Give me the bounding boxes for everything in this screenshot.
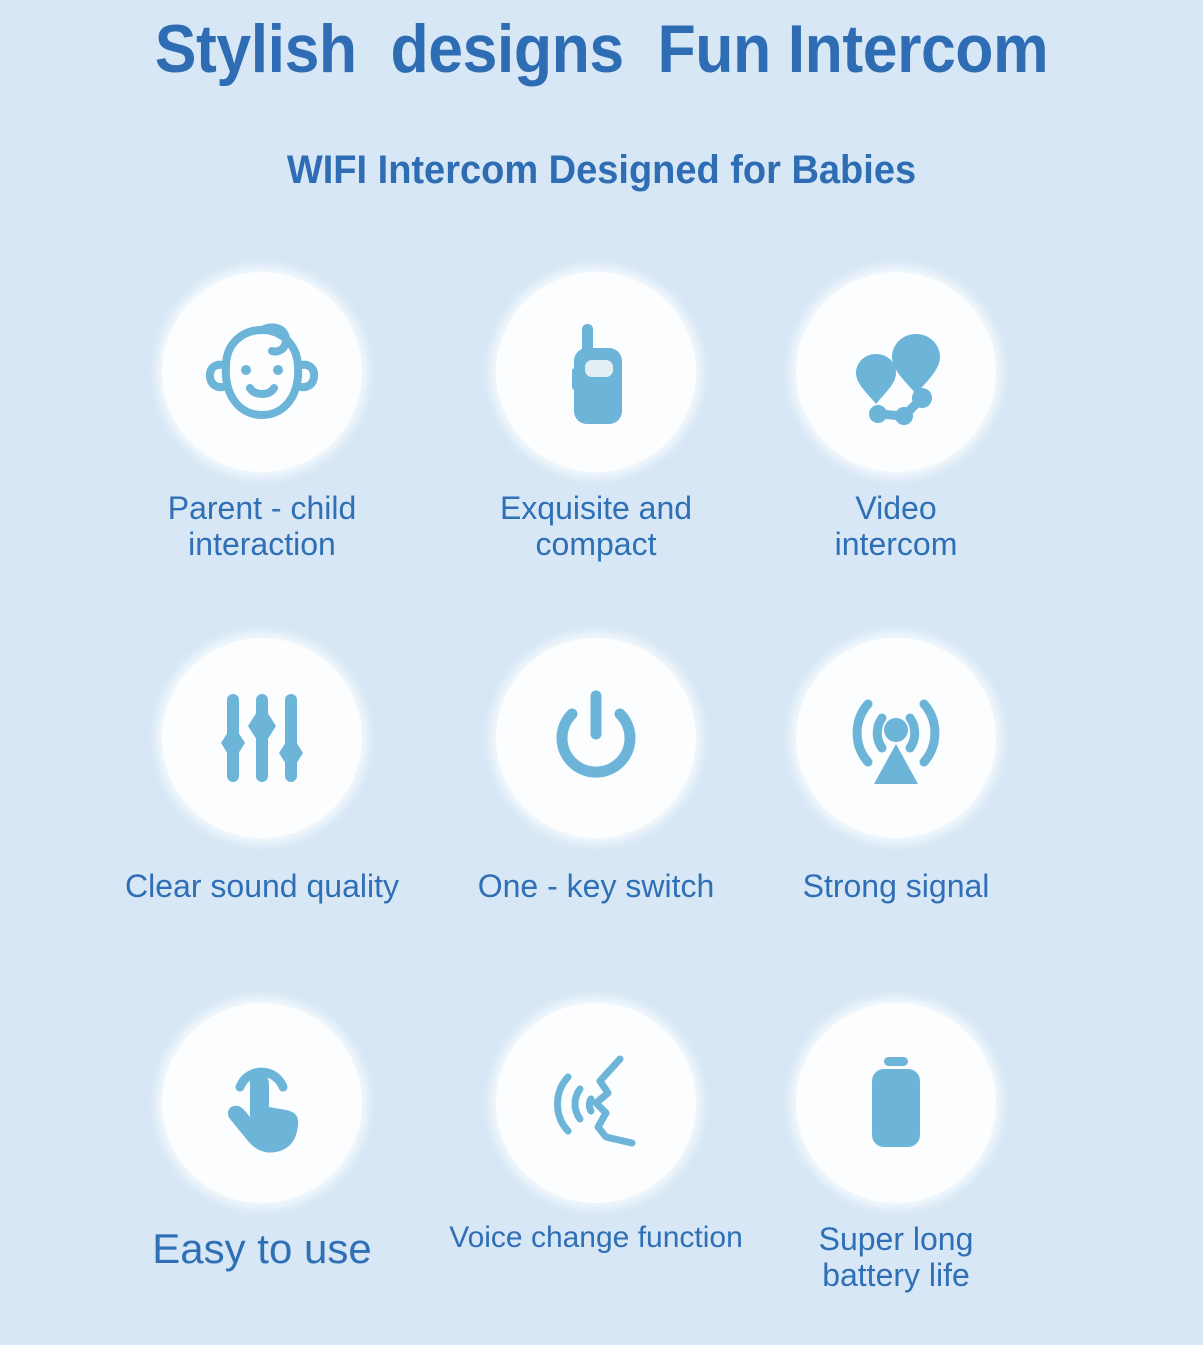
page-subtitle: WIFI Intercom Designed for Babies bbox=[30, 148, 1173, 192]
icon-badge bbox=[162, 272, 362, 472]
baby-face-icon bbox=[200, 310, 324, 434]
icon-badge bbox=[162, 1003, 362, 1203]
feature-item-strong-signal: Strong signal bbox=[729, 638, 1063, 904]
icon-badge bbox=[496, 272, 696, 472]
voice-change-icon bbox=[534, 1041, 658, 1165]
feature-infographic: Stylish designs Fun Intercom WIFI Interc… bbox=[0, 0, 1203, 1345]
feature-label: Easy to use bbox=[95, 1225, 429, 1273]
feature-label: One - key switch bbox=[429, 868, 763, 904]
signal-tower-icon bbox=[834, 676, 958, 800]
feature-label: Parent - child interaction bbox=[95, 490, 429, 563]
feature-label: Video intercom bbox=[729, 490, 1063, 563]
power-button-icon bbox=[534, 676, 658, 800]
feature-label: Voice change function bbox=[429, 1221, 763, 1255]
feature-item-easy-to-use: Easy to use bbox=[95, 1003, 429, 1273]
page-title: Stylish designs Fun Intercom bbox=[48, 14, 1155, 85]
tap-hand-icon bbox=[200, 1041, 324, 1165]
icon-badge bbox=[496, 1003, 696, 1203]
icon-badge bbox=[796, 638, 996, 838]
feature-item-clear-sound: Clear sound quality bbox=[95, 638, 429, 904]
feature-label: Exquisite and compact bbox=[429, 490, 763, 563]
feature-item-parent-child: Parent - child interaction bbox=[95, 272, 429, 563]
icon-badge bbox=[796, 1003, 996, 1203]
feature-item-battery-life: Super long battery life bbox=[729, 1003, 1063, 1294]
icon-badge bbox=[496, 638, 696, 838]
feature-label: Strong signal bbox=[729, 868, 1063, 904]
feature-item-video-intercom: Video intercom bbox=[729, 272, 1063, 563]
feature-item-voice-change: Voice change function bbox=[429, 1003, 763, 1255]
feature-label: Super long battery life bbox=[729, 1221, 1063, 1294]
video-intercom-icon bbox=[834, 310, 958, 434]
walkie-talkie-icon bbox=[534, 310, 658, 434]
feature-item-exquisite-compact: Exquisite and compact bbox=[429, 272, 763, 563]
feature-grid: Parent - child interaction Exquisite and… bbox=[0, 272, 1203, 1345]
feature-label: Clear sound quality bbox=[95, 868, 429, 904]
icon-badge bbox=[796, 272, 996, 472]
icon-badge bbox=[162, 638, 362, 838]
battery-icon bbox=[834, 1041, 958, 1165]
feature-item-one-key-switch: One - key switch bbox=[429, 638, 763, 904]
equalizer-sliders-icon bbox=[200, 676, 324, 800]
